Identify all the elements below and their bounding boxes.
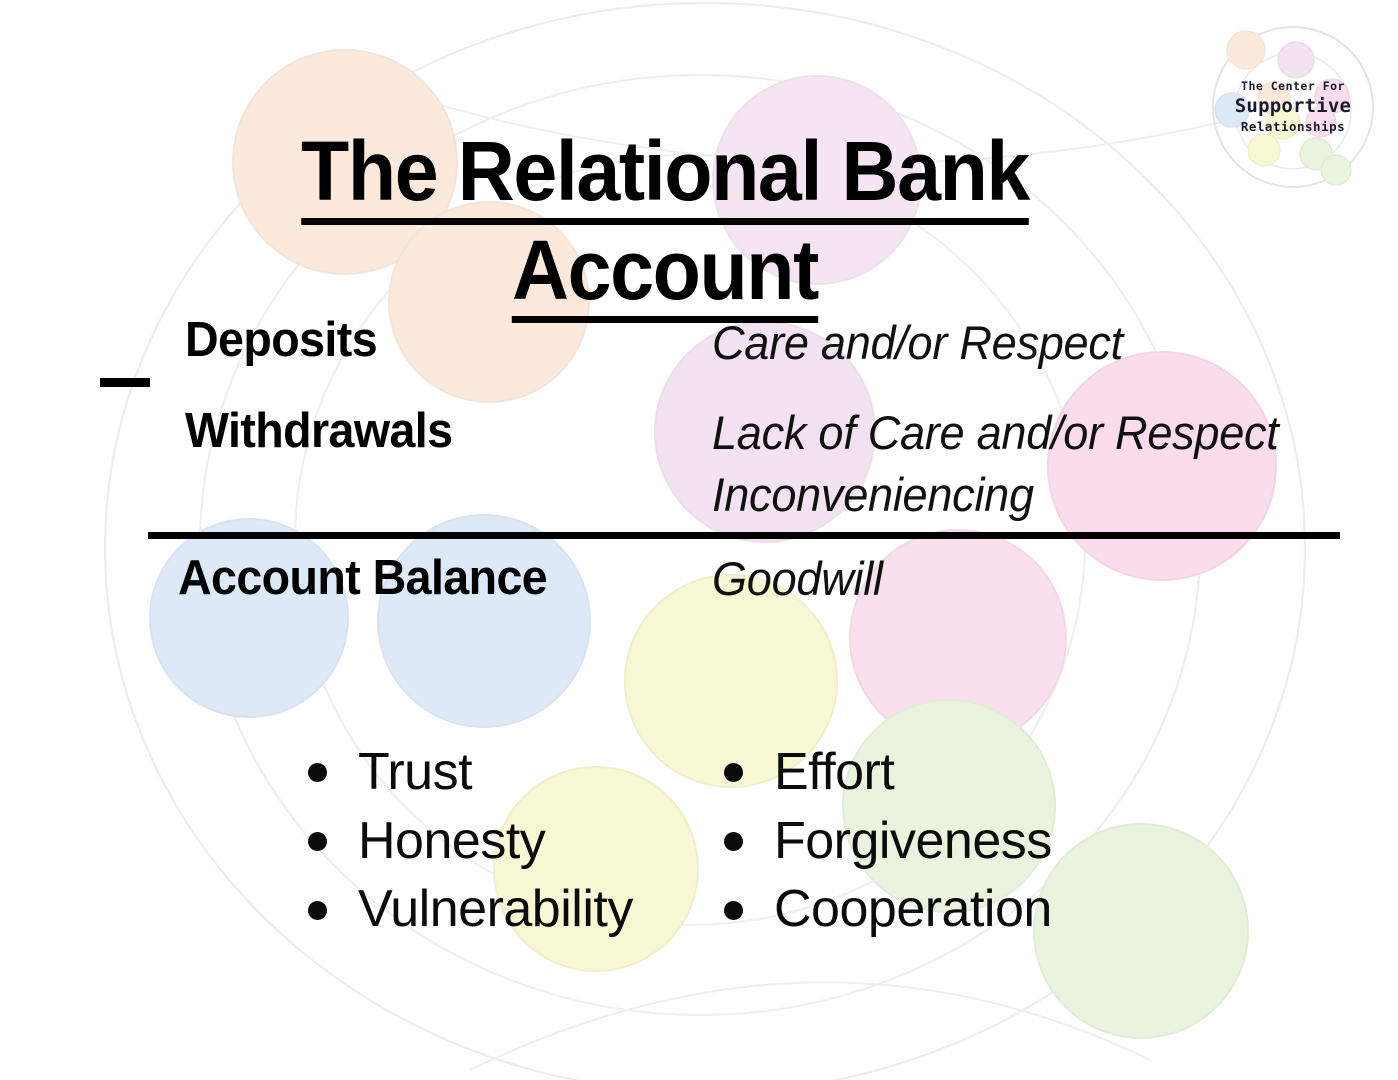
logo-line-3: Relationships [1241,119,1345,135]
page-title: The Relational Bank Account [219,126,1112,323]
list-item: Trust [300,738,633,807]
slide-canvas: The Center For Supportive Relationships … [0,0,1398,1080]
list-item: Honesty [300,807,633,876]
list-item: Cooperation [716,875,1052,944]
title-line-2-wrap: Account [219,225,1112,324]
logo-line-1: The Center For [1241,79,1345,94]
logo-wordmark: The Center For Supportive Relationships [1204,18,1382,196]
organization-logo: The Center For Supportive Relationships [1204,18,1382,196]
title-line-2: Account [512,225,818,324]
row-label-withdrawals: Withdrawals [185,403,452,459]
row-value-deposits: Care and/or Respect [712,315,1123,370]
title-line-1: The Relational Bank [301,126,1029,225]
title-line-1-wrap: The Relational Bank [219,126,1112,225]
list-item: Vulnerability [300,875,633,944]
row-value-account-balance: Goodwill [712,551,883,606]
list-item: Effort [716,738,1052,807]
row-value-withdrawals-1: Lack of Care and/or Respect [712,405,1279,460]
bullet-list-left: Trust Honesty Vulnerability [300,738,633,944]
slide-content: The Relational Bank Account Deposits Car… [0,0,1398,1080]
logo-line-2: Supportive [1235,94,1351,118]
row-label-account-balance: Account Balance [178,550,547,606]
horizontal-divider [148,532,1340,539]
row-label-deposits: Deposits [185,312,377,368]
list-item: Forgiveness [716,807,1052,876]
bullet-list-right: Effort Forgiveness Cooperation [716,738,1052,944]
row-value-withdrawals-2: Inconveniencing [712,467,1034,522]
left-dash-mark [100,378,150,387]
